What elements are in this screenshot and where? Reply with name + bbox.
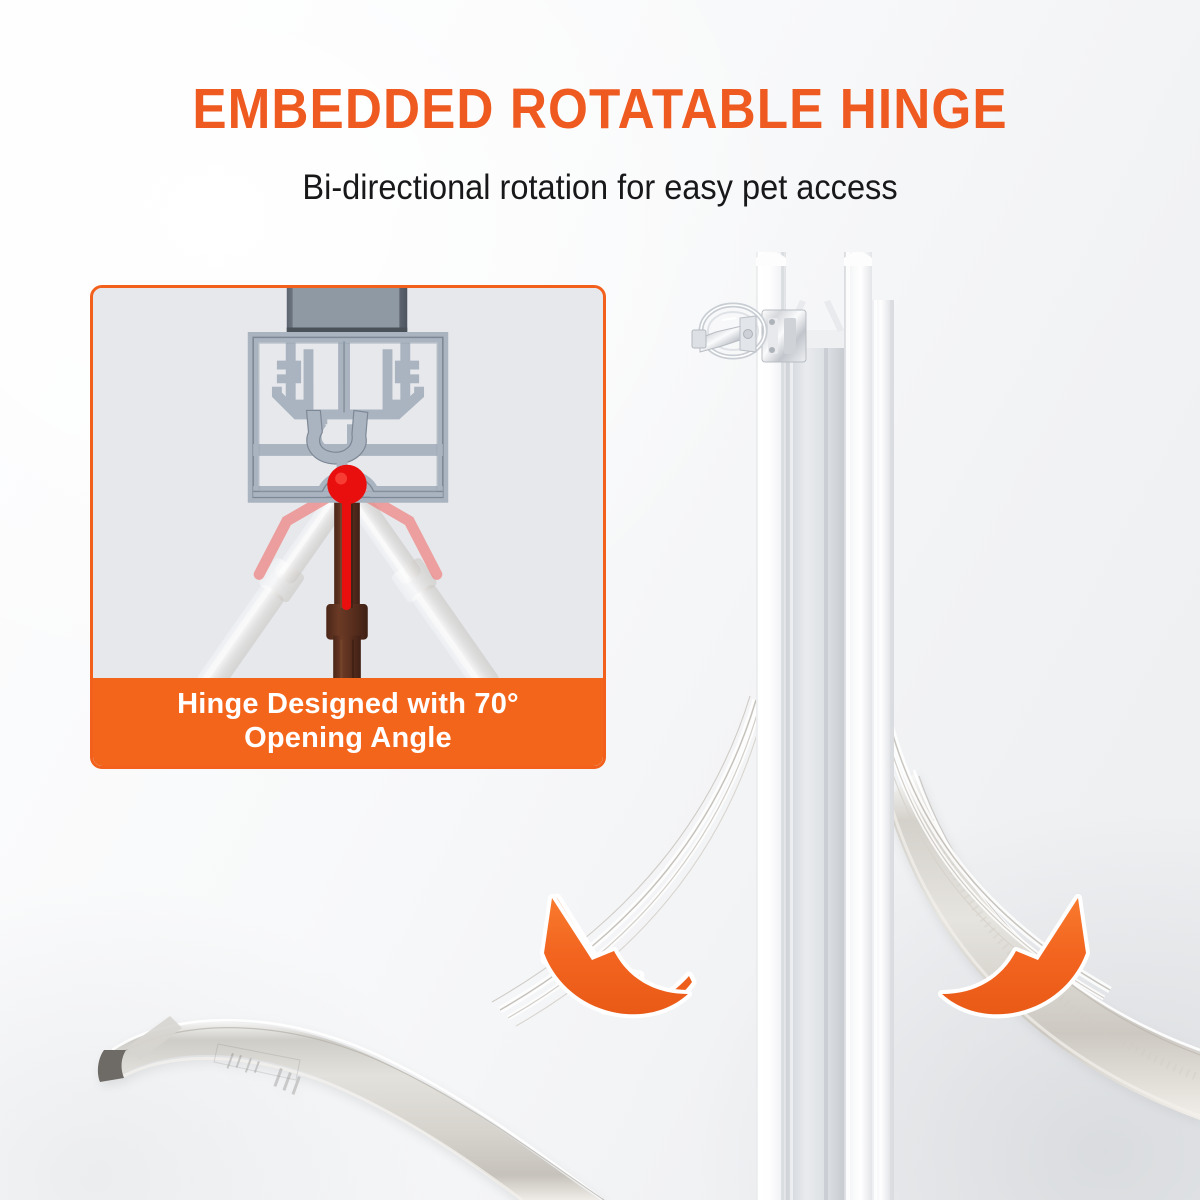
- metal-hinge-bracket: [692, 305, 806, 362]
- page-title: EMBEDDED ROTATABLE HINGE: [60, 76, 1140, 142]
- caption-line-2: Opening Angle: [244, 722, 452, 756]
- curved-aluminum-panel-left: [98, 987, 640, 1200]
- rotation-arrow-left: [544, 898, 692, 1014]
- hinge-pivot-point: [327, 465, 367, 505]
- product-feature-graphic: Hinge Designed with 70° Opening Angle EM…: [0, 0, 1200, 1200]
- white-vertical-door-post: [756, 252, 894, 1200]
- inset-caption: Hinge Designed with 70° Opening Angle: [93, 678, 603, 766]
- caption-line-1: Hinge Designed with 70°: [177, 688, 519, 722]
- hinge-detail-inset: Hinge Designed with 70° Opening Angle: [90, 285, 606, 769]
- page-subtitle: Bi-directional rotation for easy pet acc…: [42, 168, 1158, 208]
